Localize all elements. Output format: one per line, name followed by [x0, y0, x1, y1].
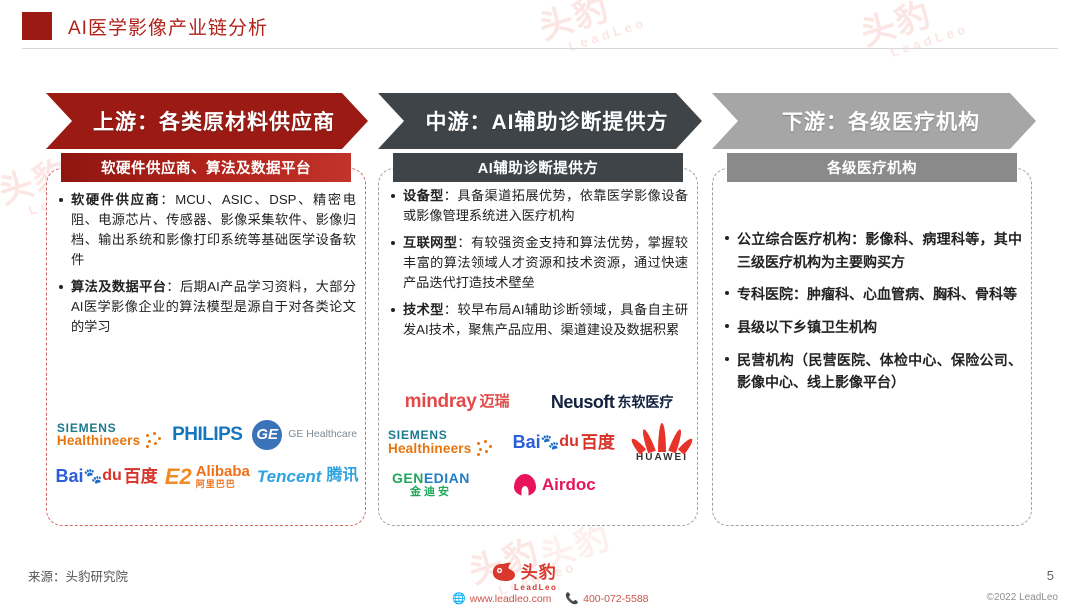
footer-phone: 400-072-5588	[583, 593, 648, 605]
list-item: 县级以下乡镇卫生机构	[722, 316, 1022, 339]
panel-header-downstream: 各级医疗机构	[727, 153, 1017, 182]
panel-body-downstream: 公立综合医疗机构：影像科、病理科等，其中三级医疗机构为主要购买方 专科医院：肿瘤…	[722, 228, 1022, 404]
siemens-healthineers-logo: SIEMENS Healthineers	[57, 422, 162, 449]
watermark: 头豹 LeadLeo	[857, 0, 971, 66]
logo-text: Bai	[513, 433, 541, 452]
list-item: 民营机构（民营医院、体检中心、保险公司、影像中心、线上影像平台）	[722, 349, 1022, 394]
title-text: AI医学影像产业链分析	[68, 13, 268, 40]
airdoc-mark-icon	[514, 474, 536, 496]
list-item: 软硬件供应商：MCU、ASIC、DSP、精密电阻、电源芯片、传感器、影像采集软件…	[56, 190, 356, 270]
slide-page: 头豹 LeadLeo 头豹 LeadLeo 头豹 LeadLeo 头豹 Lead…	[0, 0, 1080, 608]
ge-mark-icon: GE	[252, 420, 282, 450]
tencent-logo: Tencent 腾讯	[257, 468, 359, 486]
logo-grid-midstream: mindray 迈瑞 Neusoft 东软医疗 SIEMENS Healthin…	[384, 392, 694, 507]
logo-text: GENEDIAN	[392, 471, 470, 486]
bullet-lead: 设备型	[403, 188, 444, 203]
logo-row: SIEMENS Healthineers Bai 🐾 du 百度	[384, 422, 694, 464]
logo-text: Airdoc	[542, 476, 596, 494]
bullet-sep: ：	[457, 235, 471, 250]
logo-text: Healthineers	[388, 442, 471, 456]
watermark: 头豹 LeadLeo	[535, 0, 649, 60]
stage-arrow-label: 下游：各级医疗机构	[782, 106, 980, 136]
watermark-main: 头豹	[857, 0, 966, 52]
watermark-main: 头豹	[535, 0, 644, 46]
huawei-logo: HUAWEI	[634, 422, 690, 464]
genedian-logo: GENEDIAN 金迪安	[392, 471, 470, 498]
bullet-lead: 技术型	[403, 302, 444, 317]
mindray-logo: mindray 迈瑞	[405, 392, 510, 412]
alibaba-mark-icon: E2	[165, 465, 192, 488]
logo-text: SIEMENS	[388, 429, 471, 442]
bullet-lead: 互联网型	[403, 235, 457, 250]
paw-icon: 🐾	[84, 469, 103, 485]
logo-text: Alibaba	[196, 464, 250, 480]
stage-arrow-label: 中游：AI辅助诊断提供方	[426, 106, 669, 136]
logo-text: mindray	[405, 392, 477, 412]
list-item: 算法及数据平台：后期AI产品学习资料，大部分AI医学影像企业的算法模型是源自于对…	[56, 277, 356, 337]
panel-body-upstream: 软硬件供应商：MCU、ASIC、DSP、精密电阻、电源芯片、传感器、影像采集软件…	[56, 190, 356, 344]
bullet-lead: 专科医院：肿瘤科、心血管病、胸科、骨科等	[737, 286, 1017, 302]
bullet-sep: ：	[166, 279, 180, 294]
bullet-list: 公立综合医疗机构：影像科、病理科等，其中三级医疗机构为主要购买方 专科医院：肿瘤…	[722, 228, 1022, 394]
bullet-lead: 软硬件供应商	[71, 192, 160, 207]
logo-text: 百度	[124, 468, 158, 486]
logo-row: mindray 迈瑞 Neusoft 东软医疗	[384, 392, 694, 412]
page-title: AI医学影像产业链分析	[22, 12, 268, 40]
philips-logo: PHILIPS	[172, 425, 242, 445]
footer-website[interactable]: www.leadleo.com	[470, 593, 552, 605]
panel-header-upstream: 软硬件供应商、算法及数据平台	[61, 153, 351, 182]
logo-row: GENEDIAN 金迪安 Airdoc	[384, 471, 694, 498]
footer-contact: 🌐 www.leadleo.com 📞 400-072-5588	[452, 592, 649, 605]
logo-text: HUAWEI	[636, 453, 688, 464]
stage-arrow-downstream[interactable]: 下游：各级医疗机构	[712, 93, 1036, 149]
footer-brand-logo: 头豹 LeadLeo	[490, 558, 557, 592]
bullet-list: 设备型：具备渠道拓展优势，依靠医学影像设备或影像管理系统进入医疗机构 互联网型：…	[388, 186, 688, 340]
paw-icon: 🐾	[541, 435, 560, 451]
title-divider	[22, 48, 1058, 49]
stage-arrow-upstream[interactable]: 上游：各类原材料供应商	[46, 93, 368, 149]
logo-text: Tencent	[257, 468, 322, 486]
neusoft-logo: Neusoft 东软医疗	[551, 393, 674, 412]
footer-brand-sub: LeadLeo	[514, 583, 557, 592]
bullet-lead: 县级以下乡镇卫生机构	[737, 319, 877, 335]
logo-text: 阿里巴巴	[196, 480, 250, 489]
logo-row: SIEMENS Healthineers PHILIPS GE GE Healt…	[52, 420, 362, 450]
source-note: 来源：头豹研究院	[28, 566, 128, 585]
panel-body-midstream: 设备型：具备渠道拓展优势，依靠医学影像设备或影像管理系统进入医疗机构 互联网型：…	[388, 186, 688, 347]
baidu-logo: Bai 🐾 du 百度	[513, 433, 615, 452]
watermark-sub: LeadLeo	[889, 21, 970, 59]
list-item: 公立综合医疗机构：影像科、病理科等，其中三级医疗机构为主要购买方	[722, 228, 1022, 273]
globe-icon: 🌐	[452, 592, 466, 605]
dots-icon	[144, 432, 162, 448]
footer-brand-name: 头豹	[521, 558, 557, 583]
list-item: 技术型：较早布局AI辅助诊断领域，具备自主研发AI技术，聚焦产品应用、渠道建设及…	[388, 300, 688, 340]
bullet-lead: 公立综合医疗机构：影像科、病理科等，其中三级医疗机构为主要购买方	[737, 231, 1022, 270]
siemens-healthineers-logo: SIEMENS Healthineers	[388, 429, 493, 456]
logo-text: Bai	[56, 467, 84, 486]
stage-arrow-label: 上游：各类原材料供应商	[93, 106, 335, 136]
stage-arrow-midstream[interactable]: 中游：AI辅助诊断提供方	[378, 93, 702, 149]
ge-healthcare-logo: GE GE Healthcare	[252, 420, 357, 450]
bullet-sep: ：	[444, 302, 458, 317]
leopard-icon	[491, 560, 517, 582]
page-number: 5	[1047, 568, 1054, 583]
logo-text: du	[559, 434, 579, 451]
airdoc-logo: Airdoc	[514, 474, 596, 496]
panel-header-midstream: AI辅助诊断提供方	[393, 153, 683, 182]
logo-text: 腾讯	[326, 468, 358, 485]
huawei-fan-icon	[634, 422, 690, 452]
list-item: 互联网型：有较强资金支持和算法优势，掌握较丰富的算法领域人才资源和技术资源，通过…	[388, 233, 688, 293]
logo-text: 百度	[581, 434, 615, 452]
logo-text: Healthineers	[57, 434, 140, 448]
logo-text: 东软医疗	[617, 395, 673, 410]
bullet-list: 软硬件供应商：MCU、ASIC、DSP、精密电阻、电源芯片、传感器、影像采集软件…	[56, 190, 356, 337]
list-item: 专科医院：肿瘤科、心血管病、胸科、骨科等	[722, 283, 1022, 306]
alibaba-logo: E2 Alibaba 阿里巴巴	[165, 464, 250, 489]
bullet-lead: 算法及数据平台	[71, 279, 166, 294]
list-item: 设备型：具备渠道拓展优势，依靠医学影像设备或影像管理系统进入医疗机构	[388, 186, 688, 226]
baidu-logo: Bai 🐾 du 百度	[56, 467, 158, 486]
phone-icon: 📞	[565, 592, 579, 605]
logo-text: 金迪安	[410, 487, 452, 499]
logo-text: Neusoft	[551, 393, 615, 412]
bullet-lead: 民营机构（民营医院、体检中心、保险公司、影像中心、线上影像平台）	[737, 352, 1022, 391]
logo-text: GE Healthcare	[288, 429, 357, 440]
title-swatch	[22, 12, 52, 40]
copyright-text: ©2022 LeadLeo	[987, 592, 1058, 603]
logo-row: Bai 🐾 du 百度 E2 Alibaba 阿里巴巴 Tencent 腾讯	[52, 464, 362, 489]
logo-text: du	[102, 468, 122, 485]
bullet-sep: ：	[444, 188, 458, 203]
logo-text: 迈瑞	[479, 394, 509, 410]
dots-icon	[475, 440, 493, 456]
logo-grid-upstream: SIEMENS Healthineers PHILIPS GE GE Healt…	[52, 420, 362, 497]
bullet-sep: ：	[160, 192, 175, 207]
